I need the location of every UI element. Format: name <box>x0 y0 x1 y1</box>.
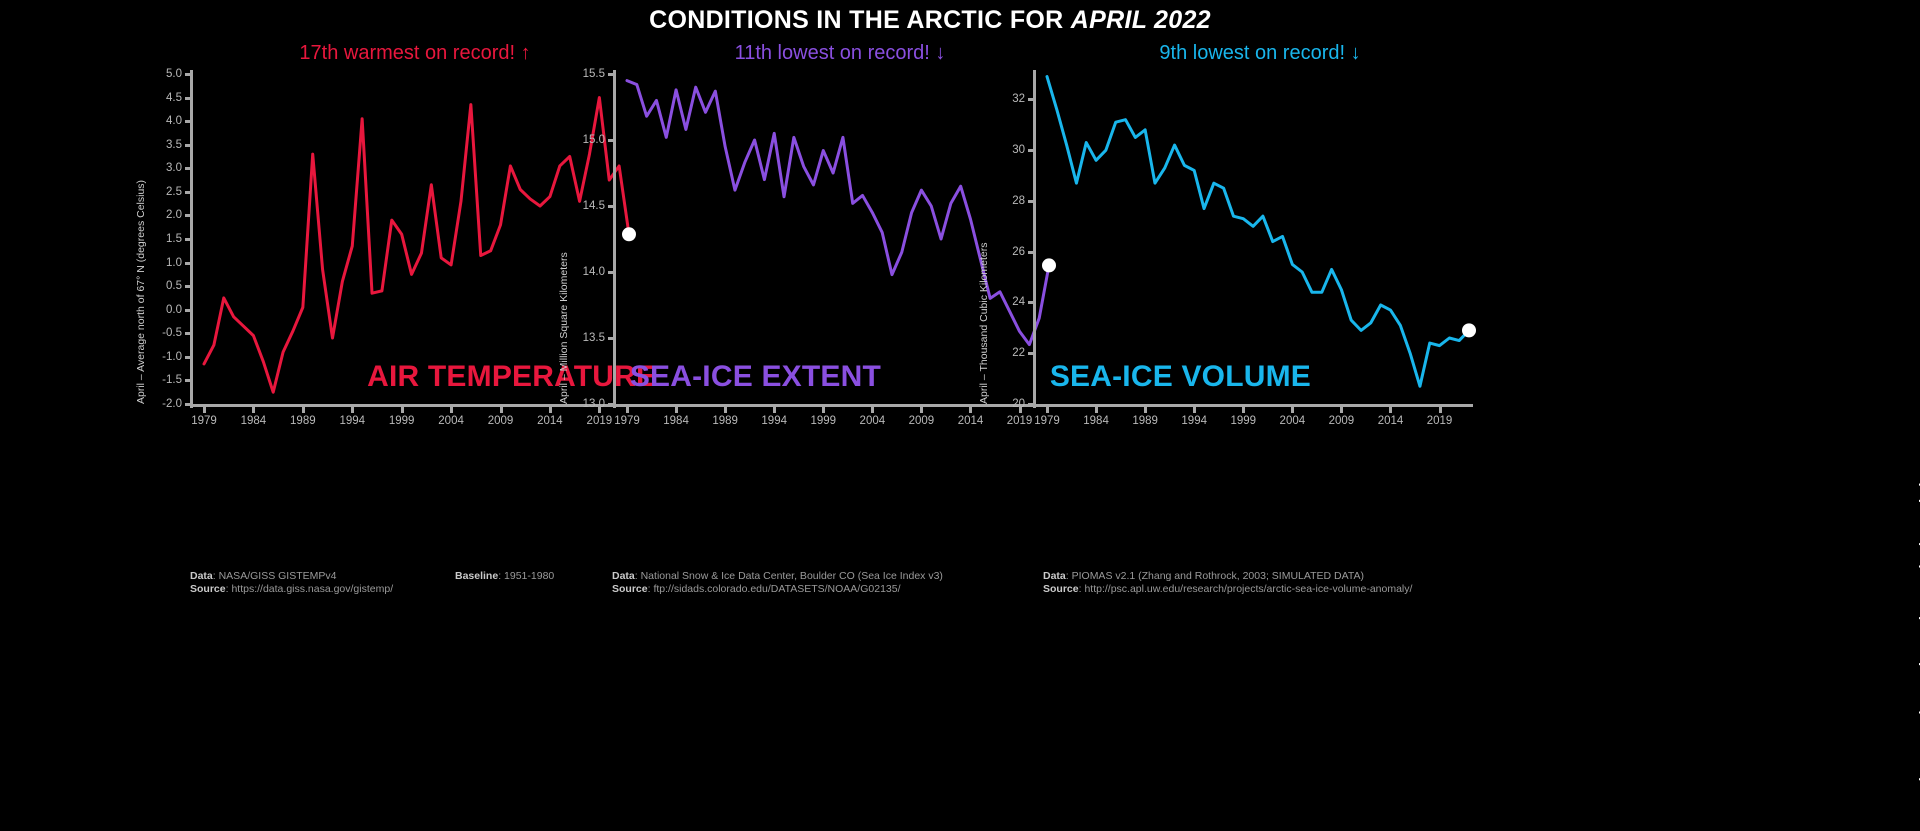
baseline-key: Baseline <box>455 570 498 582</box>
credits-source-value: : https://data.giss.nasa.gov/gistemp/ <box>226 583 394 595</box>
credits-data-key: Data <box>1043 570 1066 582</box>
latest-value-marker <box>1462 323 1476 337</box>
panel-credits: Data: NASA/GISS GISTEMPv4Source: https:/… <box>190 570 393 596</box>
credits-data-value: : NASA/GISS GISTEMPv4 <box>213 570 337 582</box>
credits-source-value: : ftp://sidads.colorado.edu/DATASETS/NOA… <box>648 583 901 595</box>
credits-source-value: : http://psc.apl.uw.edu/research/project… <box>1079 583 1413 595</box>
panel-sea-ice-volume: 9th lowest on record! ↓ 2022242628303219… <box>975 42 1545 602</box>
panel-subtitle-sea-ice-volume: 9th lowest on record! ↓ <box>975 42 1545 65</box>
page-title: CONDITIONS IN THE ARCTIC FOR APRIL 2022 <box>0 6 1860 35</box>
credits-source-key: Source <box>1043 583 1079 595</box>
baseline-note: Baseline: 1951-1980 <box>455 570 554 582</box>
credits-data-value: : National Snow & Ice Data Center, Bould… <box>635 570 943 582</box>
credits-data-key: Data <box>190 570 213 582</box>
credits-data-key: Data <box>612 570 635 582</box>
credits-data-value: : PIOMAS v2.1 (Zhang and Rothrock, 2003;… <box>1066 570 1364 582</box>
panel-big-label: SEA-ICE EXTENT <box>630 360 881 394</box>
panel-credits: Data: PIOMAS v2.1 (Zhang and Rothrock, 2… <box>1043 570 1412 596</box>
page-title-main: CONDITIONS IN THE ARCTIC FOR <box>649 6 1071 34</box>
infographic-root: CONDITIONS IN THE ARCTIC FOR APRIL 2022 … <box>0 0 1920 611</box>
panel-credits: Data: National Snow & Ice Data Center, B… <box>612 570 943 596</box>
panel-big-label: SEA-ICE VOLUME <box>1050 360 1311 394</box>
data-series-line <box>1047 77 1469 387</box>
baseline-value: : 1951-1980 <box>498 570 554 582</box>
credits-source-key: Source <box>190 583 226 595</box>
credits-source-key: Source <box>612 583 648 595</box>
page-title-month: APRIL 2022 <box>1071 6 1211 34</box>
